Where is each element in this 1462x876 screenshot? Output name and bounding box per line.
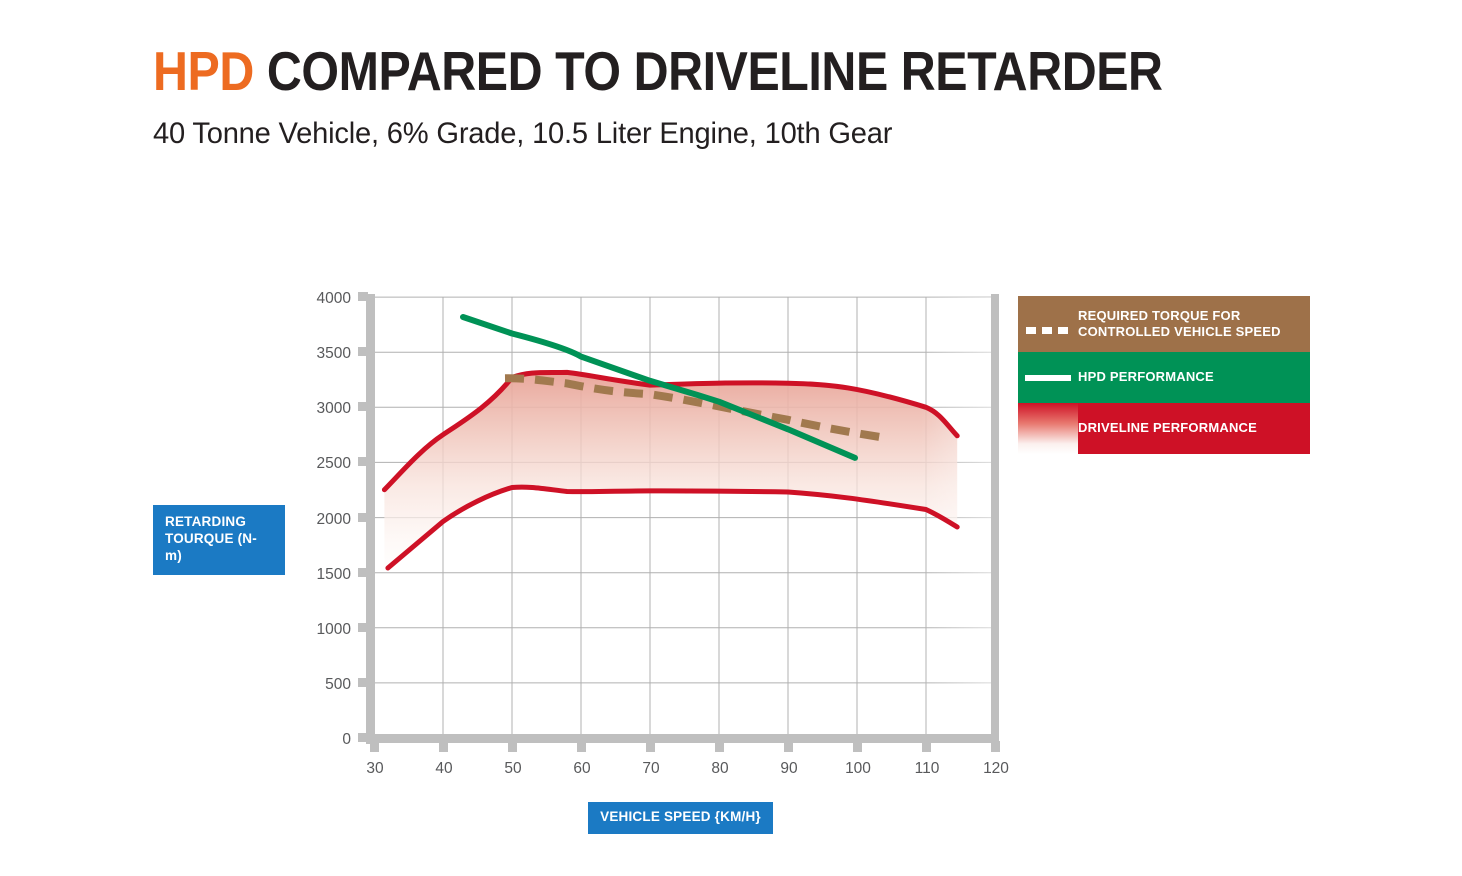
- y-axis-title-line1: RETARDING: [165, 514, 273, 531]
- y-tick-2500: 2500: [291, 455, 351, 473]
- x-tick-110: 110: [907, 760, 947, 778]
- x-tick-70: 70: [631, 760, 671, 778]
- plot-right-edge: [991, 294, 999, 744]
- y-tick-0: 0: [291, 731, 351, 749]
- chart-legend: REQUIRED TORQUE FOR CONTROLLED VEHICLE S…: [1018, 296, 1310, 454]
- y-tick-3000: 3000: [291, 400, 351, 418]
- band-right-fade: [374, 297, 995, 738]
- legend-label-required-torque: REQUIRED TORQUE FOR CONTROLLED VEHICLE S…: [1078, 308, 1289, 341]
- y-tick-3500: 3500: [291, 345, 351, 363]
- y-axis-title: RETARDING TOURQUE (N-m): [153, 505, 285, 575]
- legend-item-driveline-performance[interactable]: DRIVELINE PERFORMANCE: [1018, 403, 1310, 454]
- y-tick-1500: 1500: [291, 566, 351, 584]
- legend-label-hpd: HPD PERFORMANCE: [1078, 369, 1222, 385]
- x-tick-60: 60: [562, 760, 602, 778]
- x-tick-120: 120: [976, 760, 1016, 778]
- gradient-band-icon: [1018, 403, 1078, 454]
- x-tick-90: 90: [769, 760, 809, 778]
- x-tick-100: 100: [838, 760, 878, 778]
- y-tick-4000: 4000: [291, 290, 351, 308]
- legend-item-hpd-performance[interactable]: HPD PERFORMANCE: [1018, 352, 1310, 403]
- solid-line-icon: [1018, 352, 1078, 403]
- legend-label-driveline: DRIVELINE PERFORMANCE: [1078, 420, 1265, 436]
- dashed-line-icon: [1018, 296, 1078, 352]
- y-tick-500: 500: [291, 676, 351, 694]
- x-tick-50: 50: [493, 760, 533, 778]
- legend-label-line2: CONTROLLED VEHICLE SPEED: [1078, 324, 1281, 340]
- y-tick-1000: 1000: [291, 621, 351, 639]
- legend-item-required-torque[interactable]: REQUIRED TORQUE FOR CONTROLLED VEHICLE S…: [1018, 296, 1310, 352]
- x-tick-80: 80: [700, 760, 740, 778]
- x-tick-30: 30: [355, 760, 395, 778]
- legend-label-line1: REQUIRED TORQUE FOR: [1078, 308, 1281, 324]
- y-axis-title-line2: TOURQUE (N-m): [165, 531, 273, 565]
- x-axis-line: [366, 734, 999, 743]
- x-tick-40: 40: [424, 760, 464, 778]
- y-tick-2000: 2000: [291, 511, 351, 529]
- x-axis-title: VEHICLE SPEED {KM/H}: [588, 802, 773, 834]
